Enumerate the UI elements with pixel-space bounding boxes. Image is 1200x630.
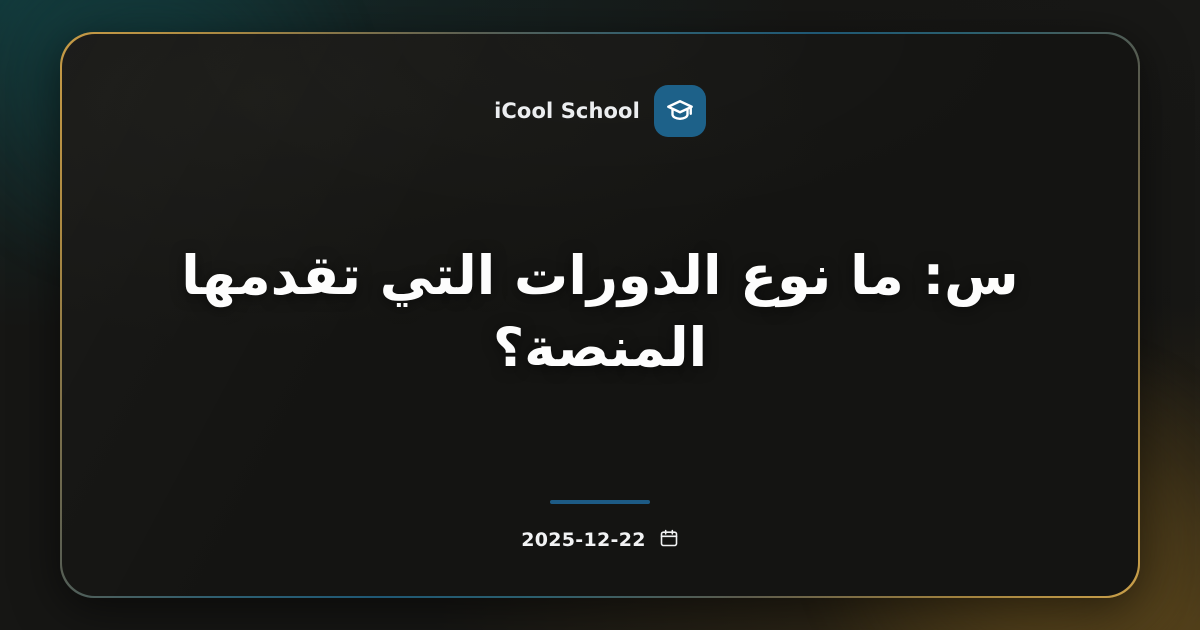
date-text: 2025-12-22	[521, 529, 646, 551]
card-footer: 2025-12-22	[521, 500, 679, 552]
quote-card-border: iCool School س: ما نوع الدورات التي تقدم…	[60, 32, 1140, 598]
brand-name: iCool School	[494, 99, 640, 123]
accent-divider	[550, 500, 650, 504]
date-row: 2025-12-22	[521, 528, 679, 552]
headline-area: س: ما نوع الدورات التي تقدمها المنصة؟	[62, 123, 1139, 501]
calendar-icon	[659, 528, 679, 552]
quote-card: iCool School س: ما نوع الدورات التي تقدم…	[62, 34, 1139, 597]
question-headline: س: ما نوع الدورات التي تقدمها المنصة؟	[120, 240, 1080, 383]
